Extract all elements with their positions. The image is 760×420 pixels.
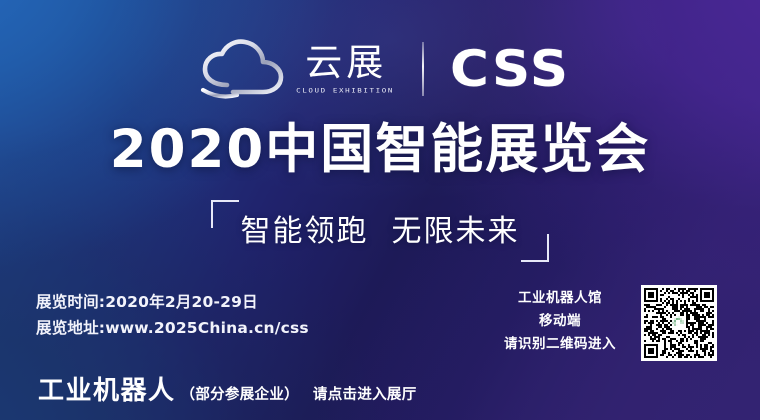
brand-chinese-tagline: CLOUD EXHIBITION bbox=[295, 86, 394, 94]
qr-caption-mobile: 移动端 bbox=[485, 313, 635, 330]
event-address-line: 展览地址:www.2025China.cn/css bbox=[36, 318, 309, 339]
exhibition-banner: 云展 CLOUD EXHIBITION CSS 2020中国智能展览会 智能领跑… bbox=[0, 0, 760, 420]
brand-chinese-name: 云展 bbox=[301, 44, 387, 81]
event-date-line: 展览时间:2020年2月20-29日 bbox=[36, 292, 309, 313]
subtitle-bracket-box: 智能领跑 无限未来 bbox=[211, 200, 549, 262]
page-title: 2020中国智能展览会 bbox=[0, 122, 760, 178]
subtitle-text: 智能领跑 无限未来 bbox=[211, 214, 549, 250]
qr-code-canvas bbox=[644, 288, 714, 358]
brand-css-logotype: CSS bbox=[450, 44, 570, 94]
logo-divider bbox=[422, 42, 424, 96]
cloud-outline-icon bbox=[197, 38, 293, 100]
enter-hall-link[interactable]: 请点击进入展厅 bbox=[313, 388, 417, 403]
brand-chinese: 云展 CLOUD EXHIBITION bbox=[295, 44, 394, 95]
qr-caption-scan: 请识别二维码进入 bbox=[485, 336, 635, 353]
subtitle-area: 智能领跑 无限未来 bbox=[0, 200, 760, 266]
qr-caption-block: 工业机器人馆 移动端 请识别二维码进入 bbox=[485, 290, 635, 353]
logo-row: 云展 CLOUD EXHIBITION CSS bbox=[0, 33, 760, 105]
qr-code[interactable] bbox=[641, 285, 717, 361]
hall-title: 工业机器人 bbox=[38, 378, 176, 404]
qr-caption-hall: 工业机器人馆 bbox=[485, 290, 635, 307]
hall-note: （部分参展企业） bbox=[181, 388, 299, 403]
event-info-block: 展览时间:2020年2月20-29日 展览地址:www.2025China.cn… bbox=[36, 292, 309, 339]
hall-entry-bar[interactable]: 工业机器人 （部分参展企业） 请点击进入展厅 bbox=[38, 378, 417, 404]
